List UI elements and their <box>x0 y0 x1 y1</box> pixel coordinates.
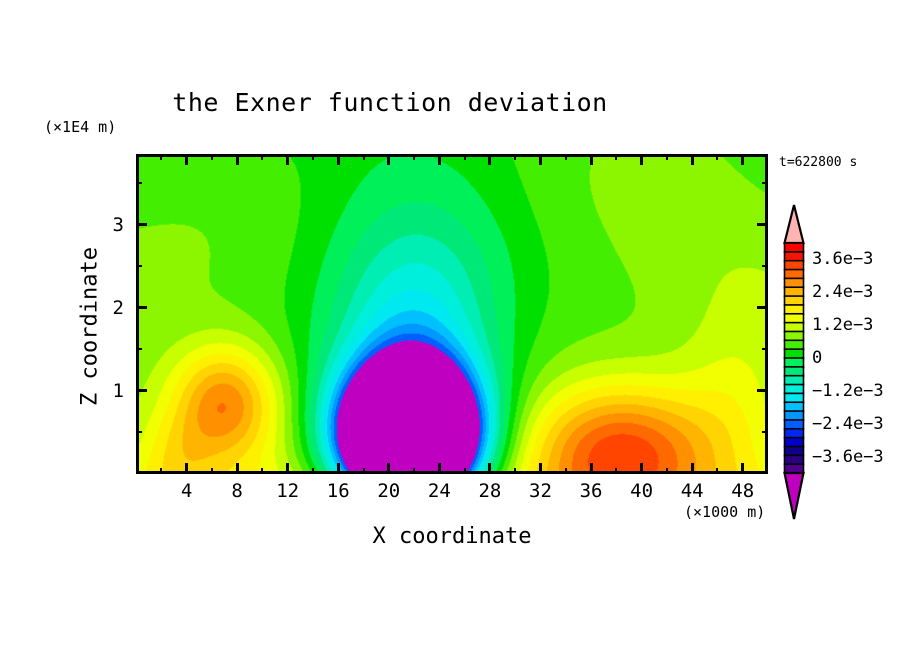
y-tick-2 <box>136 306 147 309</box>
colorbar-band-20 <box>785 420 804 429</box>
x-tick-34 <box>565 468 567 474</box>
y-axis-title: Z coordinate <box>78 207 103 447</box>
colorbar-band-13 <box>785 358 804 367</box>
x-tick-top-20 <box>387 154 390 165</box>
colorbar-label-2: 1.2e−3 <box>812 315 873 335</box>
y-tick-1.5 <box>136 348 142 350</box>
colorbar-band-8 <box>785 314 804 323</box>
colorbar-band-22 <box>785 438 804 447</box>
x-tick-label-36: 36 <box>580 480 603 502</box>
x-tick-48 <box>741 463 744 474</box>
colorbar-band-0 <box>785 243 804 252</box>
colorbar-band-18 <box>785 402 804 411</box>
x-tick-top-10 <box>261 154 263 160</box>
x-tick-8 <box>236 463 239 474</box>
colorbar-band-4 <box>785 278 804 287</box>
x-tick-top-4 <box>185 154 188 165</box>
y-tick-3.5 <box>136 182 142 184</box>
y-tick-right-2.5 <box>762 265 768 267</box>
x-tick-label-24: 24 <box>428 480 451 502</box>
colorbar-band-11 <box>785 340 804 349</box>
colorbar-band-24 <box>785 455 804 464</box>
colorbar-label-6: −3.6e−3 <box>812 447 884 467</box>
x-tick-12 <box>286 463 289 474</box>
colorbar-band-23 <box>785 446 804 455</box>
x-tick-top-46 <box>716 154 718 160</box>
x-tick-26 <box>464 468 466 474</box>
y-tick-right-3 <box>757 223 768 226</box>
y-tick-right-0.5 <box>762 431 768 433</box>
x-tick-10 <box>261 468 263 474</box>
colorbar-band-2 <box>785 261 804 270</box>
x-tick-32 <box>539 463 542 474</box>
colorbar-band-19 <box>785 411 804 420</box>
colorbar-band-6 <box>785 296 804 305</box>
colorbar-label-1: 2.4e−3 <box>812 282 873 302</box>
x-tick-4 <box>185 463 188 474</box>
contour-field <box>139 157 765 471</box>
y-tick-2.5 <box>136 265 142 267</box>
x-tick-top-22 <box>413 154 415 160</box>
x-axis-title: X coordinate <box>136 524 768 549</box>
y-tick-right-1 <box>757 389 768 392</box>
x-tick-top-34 <box>565 154 567 160</box>
x-tick-label-28: 28 <box>478 480 501 502</box>
y-tick-0.5 <box>136 431 142 433</box>
y-tick-right-1.5 <box>762 348 768 350</box>
x-tick-24 <box>438 463 441 474</box>
x-tick-top-28 <box>488 154 491 165</box>
x-tick-top-32 <box>539 154 542 165</box>
x-tick-top-18 <box>363 154 365 160</box>
x-tick-22 <box>413 468 415 474</box>
colorbar-label-5: −2.4e−3 <box>812 414 884 434</box>
colorbar-band-17 <box>785 393 804 402</box>
x-tick-46 <box>716 468 718 474</box>
x-tick-top-38 <box>615 154 617 160</box>
y-axis-unit-label: (×1E4 m) <box>44 118 116 136</box>
page-title: the Exner function deviation <box>0 88 780 117</box>
colorbar-band-3 <box>785 270 804 279</box>
x-tick-20 <box>387 463 390 474</box>
x-tick-top-16 <box>337 154 340 165</box>
x-tick-6 <box>211 468 213 474</box>
x-tick-28 <box>488 463 491 474</box>
x-tick-30 <box>514 468 516 474</box>
x-tick-top-44 <box>691 154 694 165</box>
colorbar-label-0: 3.6e−3 <box>812 249 873 269</box>
x-tick-16 <box>337 463 340 474</box>
x-axis-unit-label: (×1000 m) <box>684 503 765 521</box>
x-tick-38 <box>615 468 617 474</box>
y-tick-3 <box>136 223 147 226</box>
x-tick-top-40 <box>640 154 643 165</box>
colorbar-under-cap <box>785 473 804 519</box>
x-tick-label-40: 40 <box>630 480 653 502</box>
x-tick-14 <box>312 468 314 474</box>
x-tick-top-12 <box>286 154 289 165</box>
x-tick-36 <box>590 463 593 474</box>
colorbar-band-12 <box>785 349 804 358</box>
y-tick-right-2 <box>757 306 768 309</box>
colorbar-band-5 <box>785 287 804 296</box>
y-tick-1 <box>136 389 147 392</box>
x-tick-label-48: 48 <box>731 480 754 502</box>
colorbar-band-9 <box>785 323 804 332</box>
colorbar-band-15 <box>785 376 804 385</box>
x-tick-top-48 <box>741 154 744 165</box>
colorbar-label-4: −1.2e−3 <box>812 381 884 401</box>
x-tick-label-16: 16 <box>327 480 350 502</box>
x-tick-label-20: 20 <box>377 480 400 502</box>
x-tick-top-2 <box>160 154 162 160</box>
colorbar-band-10 <box>785 331 804 340</box>
x-tick-top-24 <box>438 154 441 165</box>
colorbar-band-1 <box>785 252 804 261</box>
x-tick-top-6 <box>211 154 213 160</box>
colorbar-label-3: 0 <box>812 348 822 368</box>
colorbar-band-7 <box>785 305 804 314</box>
x-tick-label-4: 4 <box>181 480 192 502</box>
y-tick-right-3.5 <box>762 182 768 184</box>
colorbar-over-cap <box>785 205 804 243</box>
colorbar-band-16 <box>785 385 804 394</box>
x-tick-top-30 <box>514 154 516 160</box>
x-tick-42 <box>666 468 668 474</box>
x-tick-2 <box>160 468 162 474</box>
colorbar <box>779 203 809 521</box>
x-tick-label-32: 32 <box>529 480 552 502</box>
timestamp-annotation: t=622800 s <box>779 155 857 170</box>
colorbar-band-14 <box>785 367 804 376</box>
x-tick-40 <box>640 463 643 474</box>
x-tick-label-12: 12 <box>276 480 299 502</box>
colorbar-svg <box>779 203 809 521</box>
x-tick-label-8: 8 <box>231 480 242 502</box>
colorbar-band-21 <box>785 429 804 438</box>
x-tick-label-44: 44 <box>681 480 704 502</box>
x-tick-top-36 <box>590 154 593 165</box>
contour-plot-area <box>136 154 768 474</box>
x-tick-top-8 <box>236 154 239 165</box>
x-tick-top-26 <box>464 154 466 160</box>
x-tick-18 <box>363 468 365 474</box>
x-tick-44 <box>691 463 694 474</box>
x-tick-top-14 <box>312 154 314 160</box>
x-tick-top-42 <box>666 154 668 160</box>
